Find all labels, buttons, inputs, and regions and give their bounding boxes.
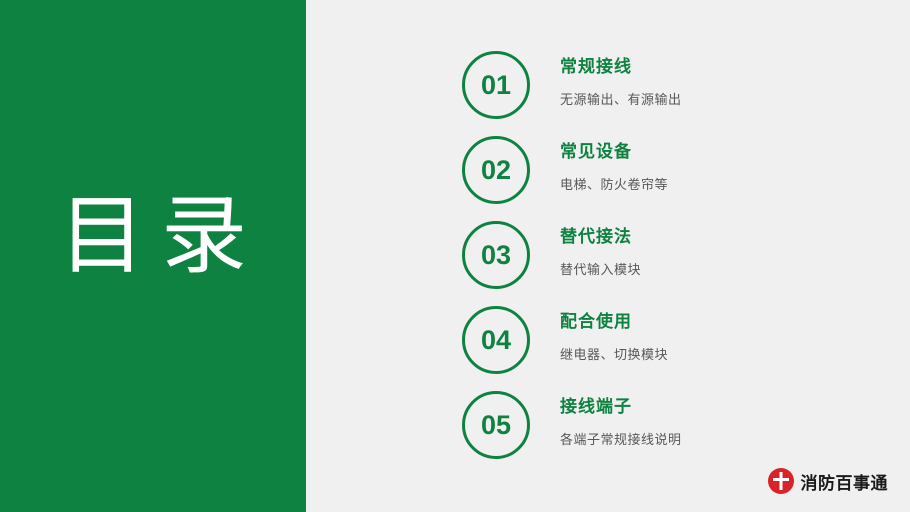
toc-subtitle: 继电器、切换模块: [560, 344, 668, 363]
toc-number-badge: 01: [462, 51, 530, 119]
toc-number-badge: 05: [462, 391, 530, 459]
toc-text-block: 替代接法 替代输入模块: [560, 222, 641, 278]
toc-text-block: 接线端子 各端子常规接线说明: [560, 392, 682, 448]
toc-subtitle: 替代输入模块: [560, 259, 641, 278]
brand-name: 消防百事通: [801, 469, 889, 494]
toc-heading: 替代接法: [560, 222, 641, 247]
toc-heading: 接线端子: [560, 392, 682, 417]
toc-heading: 常见设备: [560, 137, 668, 162]
list-item[interactable]: 01 常规接线 无源输出、有源输出: [462, 44, 862, 129]
toc-subtitle: 电梯、防火卷帘等: [560, 174, 668, 193]
list-item[interactable]: 05 接线端子 各端子常规接线说明: [462, 384, 862, 469]
toc-subtitle: 无源输出、有源输出: [560, 89, 682, 108]
brand-logo: 消防百事通: [768, 468, 889, 494]
toc-subtitle: 各端子常规接线说明: [560, 429, 682, 448]
page-title: 目录: [0, 186, 306, 286]
fire-cross-icon: [768, 468, 794, 494]
list-item[interactable]: 02 常见设备 电梯、防火卷帘等: [462, 129, 862, 214]
toc-text-block: 常见设备 电梯、防火卷帘等: [560, 137, 668, 193]
toc-text-block: 配合使用 继电器、切换模块: [560, 307, 668, 363]
table-of-contents: 01 常规接线 无源输出、有源输出 02 常见设备 电梯、防火卷帘等 03 替代…: [462, 44, 862, 469]
list-item[interactable]: 03 替代接法 替代输入模块: [462, 214, 862, 299]
toc-heading: 配合使用: [560, 307, 668, 332]
toc-number-badge: 04: [462, 306, 530, 374]
slide-canvas: 目录 01 常规接线 无源输出、有源输出 02 常见设备 电梯、防火卷帘等 03…: [0, 0, 910, 512]
list-item[interactable]: 04 配合使用 继电器、切换模块: [462, 299, 862, 384]
toc-heading: 常规接线: [560, 52, 682, 77]
toc-number-badge: 03: [462, 221, 530, 289]
toc-number-badge: 02: [462, 136, 530, 204]
toc-text-block: 常规接线 无源输出、有源输出: [560, 52, 682, 108]
